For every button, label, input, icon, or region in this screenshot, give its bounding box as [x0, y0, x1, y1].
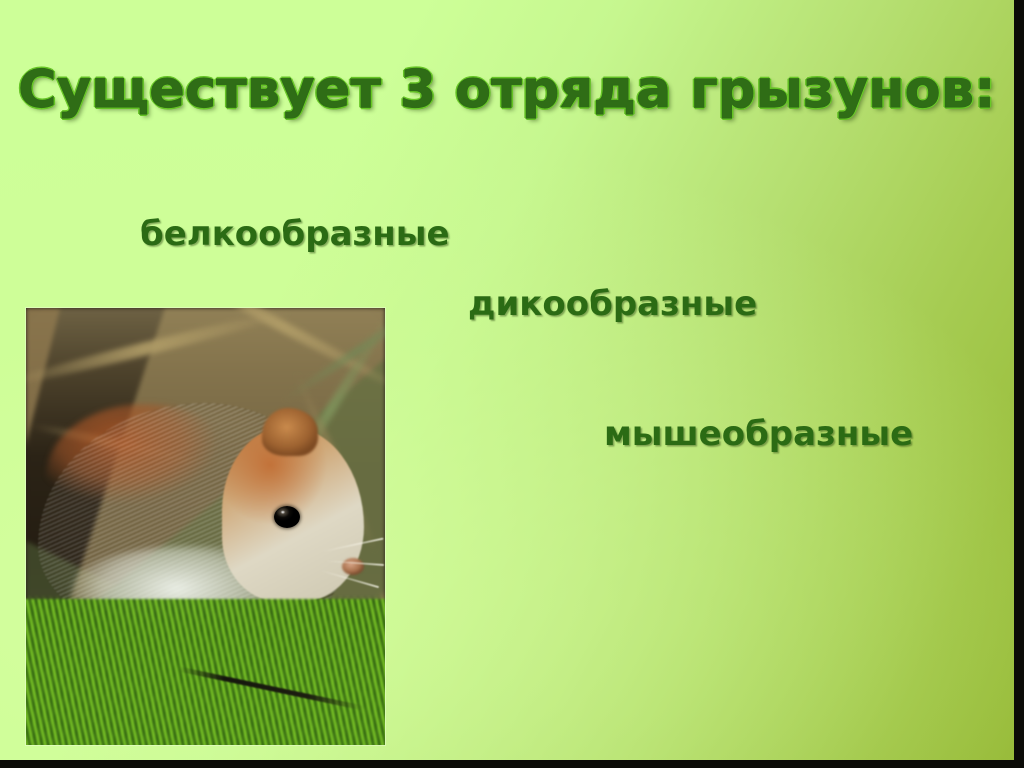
- slide-title: Существует 3 отряда грызунов:: [0, 58, 1014, 122]
- slide-border-bottom: [0, 760, 1024, 768]
- slide-border-right: [1014, 0, 1024, 768]
- vole-photo: [26, 308, 385, 745]
- photo-vignette: [26, 308, 385, 745]
- order-label-mouse-like: мышеобразные: [604, 414, 913, 454]
- order-label-squirrel-like: белкообразные: [140, 214, 450, 254]
- presentation-slide: Существует 3 отряда грызунов: белкообраз…: [0, 0, 1024, 768]
- order-label-porcupine-like: дикообразные: [468, 284, 757, 324]
